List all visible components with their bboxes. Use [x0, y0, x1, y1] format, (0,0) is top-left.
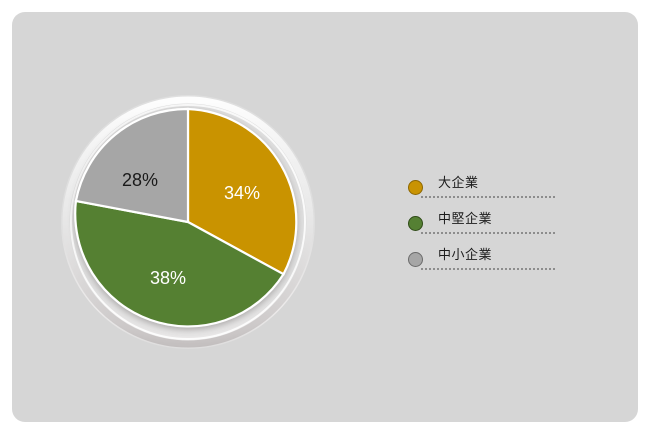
legend-item-large-enterprise[interactable]: 大企業 — [405, 172, 575, 208]
legend-marker-icon — [408, 252, 423, 267]
legend-item-small-enterprise[interactable]: 中小企業 — [405, 244, 575, 280]
pie-chart: 34% 38% 28% — [60, 94, 316, 350]
chart-legend: 大企業 中堅企業 中小企業 — [405, 172, 575, 280]
legend-marker-icon — [408, 216, 423, 231]
pie-label-midsize-enterprise: 38% — [150, 268, 186, 288]
pie-label-large-enterprise: 34% — [224, 183, 260, 203]
legend-item-label: 大企業 — [438, 172, 479, 194]
legend-item-label: 中堅企業 — [438, 208, 492, 230]
legend-leader-line — [420, 196, 557, 198]
chart-area: 34% 38% 28% 大企業 中堅企業 中小企業 — [0, 0, 650, 434]
legend-leader-line — [420, 268, 557, 270]
pie-chart-svg: 34% 38% 28% — [60, 94, 316, 350]
pie-label-small-enterprise: 28% — [122, 170, 158, 190]
pie-slice-small-enterprise[interactable] — [76, 109, 188, 222]
legend-item-midsize-enterprise[interactable]: 中堅企業 — [405, 208, 575, 244]
pie-slices — [75, 109, 296, 326]
legend-leader-line — [420, 232, 557, 234]
legend-item-label: 中小企業 — [438, 244, 492, 266]
legend-marker-icon — [408, 180, 423, 195]
